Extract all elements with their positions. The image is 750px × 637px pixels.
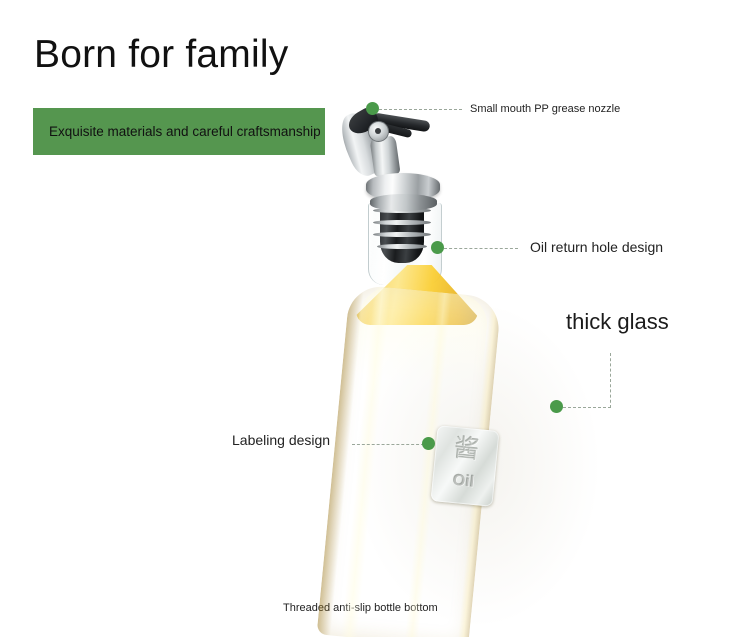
callout-dot-thick-glass (550, 400, 563, 413)
stopper-rib (373, 232, 431, 237)
page-title: Born for family (34, 31, 288, 79)
callout-line-nozzle (379, 109, 462, 110)
infographic-page: Born for family Exquisite materials and … (0, 0, 750, 637)
callout-dot-nozzle (366, 102, 379, 115)
label-plate-glyph: 酱 (434, 431, 499, 467)
callout-label-labeling-design: Labeling design (232, 431, 330, 449)
callout-dot-oil-return-hole (431, 241, 444, 254)
spout-pivot-hub (368, 121, 389, 142)
callout-line-oil-return-hole (444, 248, 518, 249)
metal-collar-ring-lower (370, 194, 437, 211)
callout-dot-labeling-design (422, 437, 435, 450)
embossed-label-plate: 酱 Oil (431, 425, 500, 507)
callout-line-thick-glass-horizontal (563, 407, 611, 408)
subtitle-banner-text: Exquisite materials and careful craftsma… (33, 123, 321, 140)
callout-line-labeling-design (352, 444, 424, 445)
callout-line-thick-glass-vertical (610, 353, 611, 408)
subtitle-banner: Exquisite materials and careful craftsma… (33, 108, 325, 155)
label-plate-word: Oil (432, 470, 495, 494)
spout-stem (369, 135, 400, 176)
product-image-oil-bottle (330, 95, 630, 637)
stopper-rib (373, 220, 431, 225)
stopper-rib (377, 244, 427, 249)
